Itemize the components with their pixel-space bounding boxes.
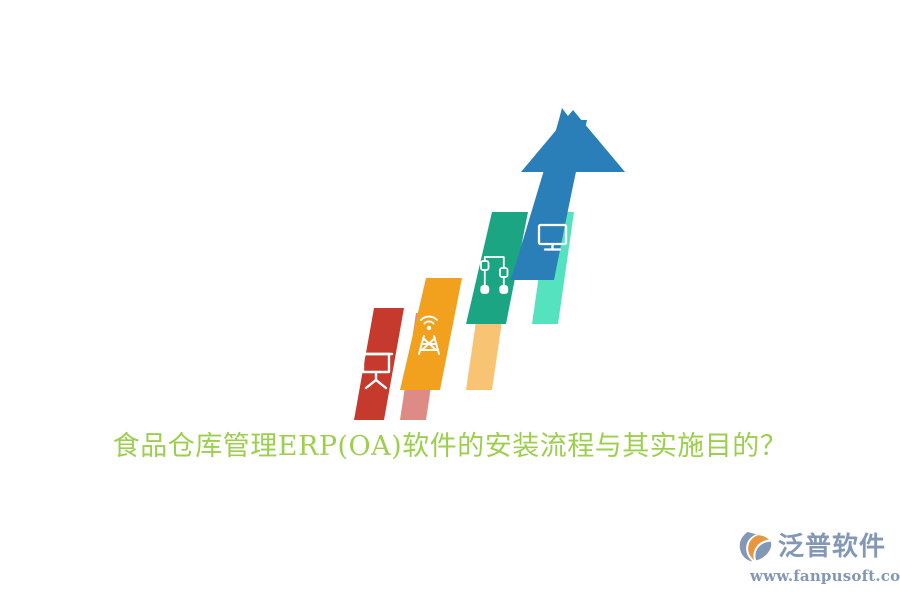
brand-name: 泛普软件 [778,532,886,562]
arrow-head-blue [521,110,625,172]
arrow-segment-orange-face [400,278,462,390]
brand-logo[interactable]: 泛普软件 www.fanpusoft.com [750,528,886,592]
fanpu-logo-icon [738,530,774,564]
banner-root: 食品仓库管理ERP(OA)软件的安装流程与其实施目的？ 泛普软件 www.fan… [0,0,900,600]
page-title: 食品仓库管理ERP(OA)软件的安装流程与其实施目的？ [0,424,900,470]
brand-logo-row: 泛普软件 [750,528,886,566]
arrow-segment-red-face [354,308,404,420]
brand-url[interactable]: www.fanpusoft.com [750,566,886,586]
ascending-arrow-infographic [340,100,640,430]
